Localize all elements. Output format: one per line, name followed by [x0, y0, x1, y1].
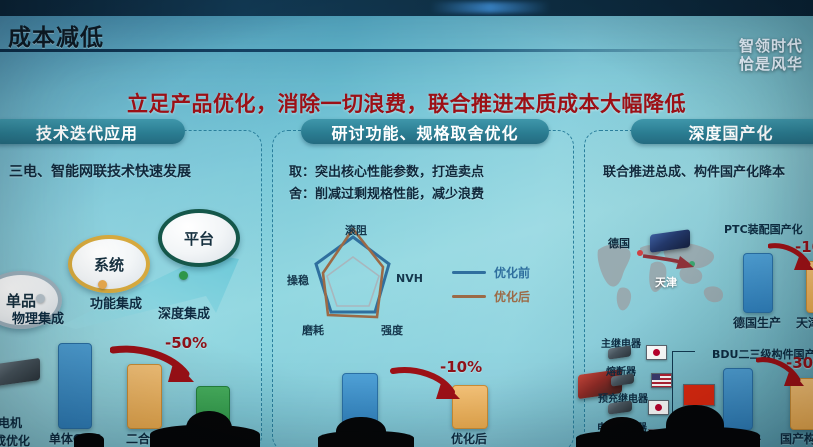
reduction-arrow-icon-p2 — [390, 366, 464, 402]
bullet-1-text: 突出核心性能参数，打造卖点 — [315, 165, 484, 180]
bullet-2-text: 削减过剩规格性能，减少浪费 — [315, 187, 484, 202]
circle-label-1: 系统 — [94, 254, 124, 275]
panel-1-header: 技术迭代应用 — [0, 119, 185, 144]
brand-line-1: 智领时代 — [739, 38, 803, 56]
radar-axis-label-4: 操稳 — [287, 272, 309, 288]
panel-3-header: 深度国产化 — [631, 119, 813, 144]
audience-silhouette-4 — [640, 427, 760, 447]
bar-label-p3b-1: 国产构件 — [775, 430, 813, 447]
audience-silhouette-2 — [318, 431, 414, 447]
device-caption-2: 成优化 — [0, 432, 30, 447]
map-origin-label: 德国 — [608, 235, 630, 251]
map-destination-label: 天津 — [655, 274, 677, 290]
bar-label-p3a-1: 天津生产 — [791, 314, 813, 331]
brand-line-2: 恰是风华 — [739, 56, 803, 74]
flag-japan-1 — [648, 400, 669, 415]
audience-head-5 — [74, 433, 104, 447]
projector-glare — [430, 2, 550, 13]
bar-p3b-0 — [723, 368, 753, 430]
slide-surface: 成本减低 智领时代 恰是风华 立足产品优化，消除一切浪费，联合推进本质成本大幅降… — [0, 16, 813, 447]
circle-label-2: 平台 — [184, 228, 214, 249]
stage-circle-platform: 平台 — [158, 209, 240, 267]
chart-title-ptc: PTC装配国产化 — [724, 221, 803, 237]
panel-1-subtitle: 三电、智能网联技术快速发展 — [9, 161, 191, 181]
flag-japan-0 — [646, 345, 667, 360]
photo-of-presentation-slide: 成本减低 智领时代 恰是风华 立足产品优化，消除一切浪费，联合推进本质成本大幅降… — [0, 0, 813, 447]
reduction-arrow-icon-p3b — [756, 356, 808, 388]
milestone-dot-1 — [98, 280, 107, 289]
stage-circle-system: 系统 — [68, 235, 150, 293]
bullet-1-key: 取： — [289, 165, 315, 180]
bar-label-p3a-0: 德国生产 — [728, 314, 786, 331]
device-caption-1: 电机 — [0, 414, 22, 431]
slide-headline: 立足产品优化，消除一切浪费，联合推进本质成本大幅降低 — [0, 88, 813, 118]
radar-axis-label-0: 滚阻 — [345, 222, 367, 238]
legend-swatch-1 — [452, 295, 486, 298]
radar-axis-label-1: NVH — [396, 272, 423, 285]
legend-label-0: 优化前 — [494, 264, 530, 281]
milestone-label-0: 物理集成 — [12, 308, 64, 327]
title-divider — [0, 49, 760, 52]
bullet-2-key: 舍： — [289, 187, 315, 202]
milestone-label-2: 深度集成 — [158, 303, 210, 322]
panel-2-header: 研讨功能、规格取舍优化 — [301, 119, 549, 144]
audience-head-1 — [186, 411, 232, 447]
page-title: 成本减低 — [8, 18, 104, 52]
milestone-label-1: 功能集成 — [90, 293, 142, 312]
reduction-arrow-icon-p3a — [768, 242, 813, 272]
legend-swatch-0 — [452, 271, 486, 274]
radar-axis-label-3: 磨耗 — [302, 322, 324, 338]
panel-3-subtitle: 联合推进总成、构件国产化降本 — [603, 161, 785, 180]
flag-china-target — [683, 384, 715, 406]
flag-usa — [651, 373, 672, 388]
brand-watermark: 智领时代 恰是风华 — [739, 38, 803, 73]
radar-axis-label-2: 强度 — [381, 322, 403, 338]
panel-2-bullet-1: 取：突出核心性能参数，打造卖点 — [289, 161, 484, 180]
reduction-arrow-icon-p1 — [110, 344, 200, 386]
milestone-dot-2 — [179, 271, 188, 280]
bar-p1-0 — [58, 343, 92, 429]
panel-2-bullet-2: 舍：削减过剩规格性能，减少浪费 — [289, 183, 484, 202]
legend-label-1: 优化后 — [494, 288, 530, 305]
milestone-dot-0 — [36, 294, 45, 303]
bar-label-p2-1: 优化后 — [440, 430, 498, 447]
